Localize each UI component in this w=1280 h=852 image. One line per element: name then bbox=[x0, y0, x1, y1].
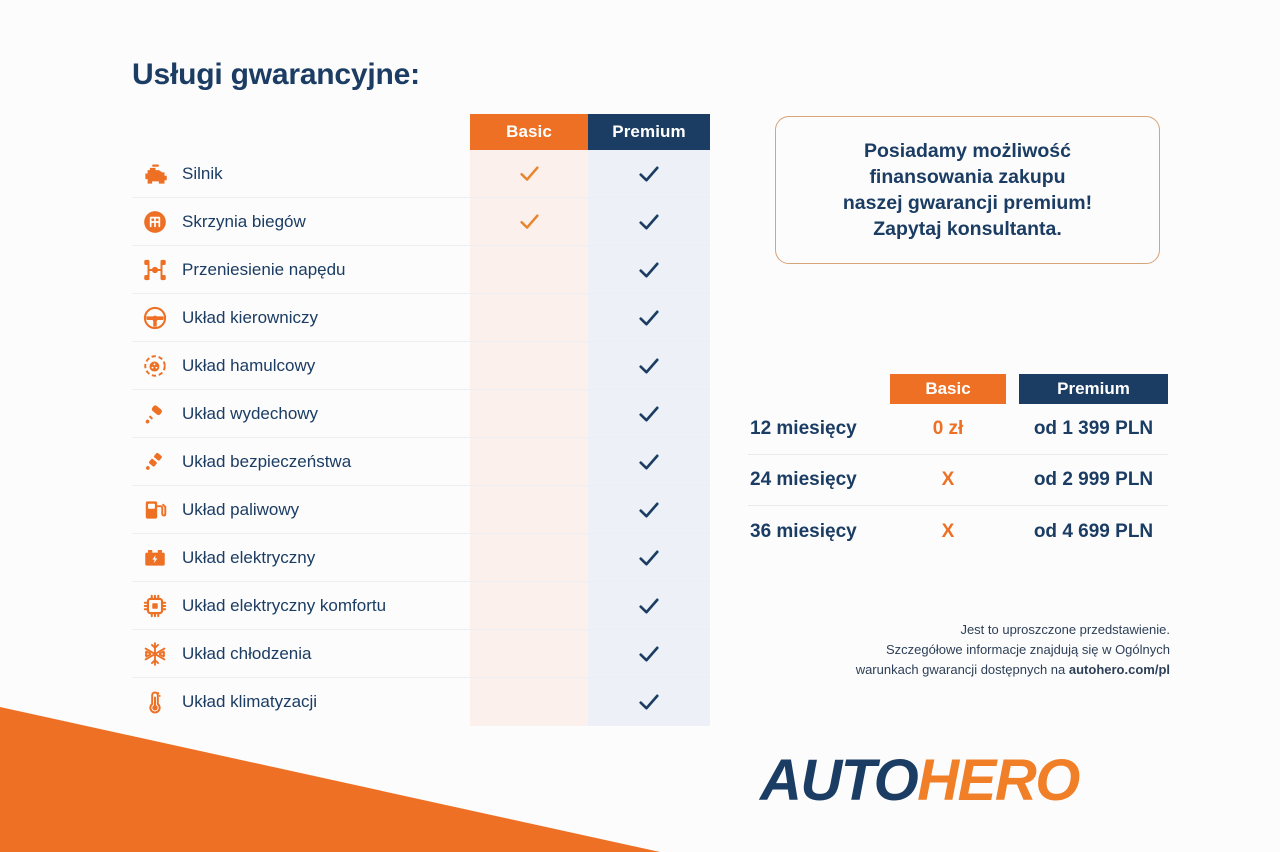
check-icon bbox=[638, 693, 660, 711]
check-icon bbox=[519, 213, 540, 230]
drivetrain-icon bbox=[132, 257, 178, 283]
check-icon bbox=[519, 165, 540, 182]
pricing-header-spacer bbox=[748, 374, 890, 404]
feature-label: Układ chłodzenia bbox=[178, 644, 470, 664]
feature-row: Układ elektryczny bbox=[132, 534, 710, 582]
feature-label: Układ bezpieczeństwa bbox=[178, 452, 470, 472]
feature-label: Układ elektryczny bbox=[178, 548, 470, 568]
financing-promo-box: Posiadamy możliwość finansowania zakupu … bbox=[775, 116, 1160, 264]
check-icon bbox=[638, 597, 660, 615]
check-icon bbox=[638, 213, 660, 231]
feature-row: Układ hamulcowy bbox=[132, 342, 710, 390]
promo-line-3: naszej gwarancji premium! bbox=[794, 191, 1141, 217]
pricing-term: 12 miesięcy bbox=[748, 418, 890, 440]
feature-cell-premium bbox=[588, 198, 710, 245]
snowflake-icon bbox=[132, 641, 178, 667]
feature-cell-premium bbox=[588, 246, 710, 293]
pricing-header-basic: Basic bbox=[890, 374, 1006, 404]
page-title: Usługi gwarancyjne: bbox=[132, 58, 712, 92]
battery-icon bbox=[132, 545, 178, 571]
pricing-value-premium: od 2 999 PLN bbox=[1019, 469, 1168, 491]
feature-cell-basic bbox=[470, 534, 588, 581]
feature-row: Układ chłodzenia bbox=[132, 630, 710, 678]
feature-row: Układ wydechowy bbox=[132, 390, 710, 438]
pricing-value-basic: 0 zł bbox=[890, 418, 1006, 440]
chip-icon bbox=[132, 593, 178, 619]
feature-cell-premium bbox=[588, 582, 710, 629]
pricing-value-premium: od 1 399 PLN bbox=[1019, 418, 1168, 440]
pricing-row: 12 miesięcy0 złod 1 399 PLN bbox=[748, 404, 1168, 455]
feature-cell-premium bbox=[588, 630, 710, 677]
check-icon bbox=[638, 357, 660, 375]
seatbelt-icon bbox=[132, 449, 178, 475]
feature-row: Skrzynia biegów bbox=[132, 198, 710, 246]
thermometer-icon bbox=[132, 689, 178, 715]
check-icon bbox=[638, 405, 660, 423]
feature-label: Układ klimatyzacji bbox=[178, 692, 470, 712]
pricing-table-body: 12 miesięcy0 złod 1 399 PLN24 miesięcyXo… bbox=[748, 404, 1168, 557]
pricing-term: 24 miesięcy bbox=[748, 469, 890, 491]
pricing-row: 36 miesięcyXod 4 699 PLN bbox=[748, 506, 1168, 557]
feature-cell-basic bbox=[470, 246, 588, 293]
disclaimer-line-3: warunkach gwarancji dostępnych na autohe… bbox=[700, 660, 1170, 680]
financing-promo-box-wrapper: Posiadamy możliwość finansowania zakupu … bbox=[775, 116, 1160, 264]
feature-label: Układ hamulcowy bbox=[178, 356, 470, 376]
pricing-value-basic: X bbox=[890, 521, 1006, 543]
feature-label: Przeniesienie napędu bbox=[178, 260, 470, 280]
feature-cell-basic bbox=[470, 198, 588, 245]
disclaimer-line-3-prefix: warunkach gwarancji dostępnych na bbox=[856, 662, 1069, 677]
check-icon bbox=[638, 165, 660, 183]
logo-text-hero: HERO bbox=[917, 748, 1079, 813]
pricing-table: Basic Premium 12 miesięcy0 złod 1 399 PL… bbox=[748, 374, 1168, 557]
header-spacer bbox=[132, 114, 470, 150]
autohero-website-link[interactable]: autohero.com/pl bbox=[1069, 662, 1170, 677]
check-icon bbox=[638, 549, 660, 567]
feature-row: Układ kierowniczy bbox=[132, 294, 710, 342]
feature-cell-premium bbox=[588, 486, 710, 533]
pricing-header-gap bbox=[1006, 374, 1019, 404]
feature-table-body: SilnikSkrzynia biegówPrzeniesienie napęd… bbox=[132, 150, 710, 726]
feature-cell-premium bbox=[588, 390, 710, 437]
feature-cell-basic bbox=[470, 486, 588, 533]
feature-cell-premium bbox=[588, 342, 710, 389]
feature-row: Układ elektryczny komfortu bbox=[132, 582, 710, 630]
column-header-premium: Premium bbox=[588, 114, 710, 150]
feature-cell-premium bbox=[588, 294, 710, 341]
feature-row: Układ paliwowy bbox=[132, 486, 710, 534]
fuel-pump-icon bbox=[132, 497, 178, 523]
feature-cell-basic bbox=[470, 150, 588, 197]
check-icon bbox=[638, 453, 660, 471]
feature-cell-basic bbox=[470, 294, 588, 341]
engine-icon bbox=[132, 160, 178, 187]
feature-row: Silnik bbox=[132, 150, 710, 198]
pricing-value-basic: X bbox=[890, 469, 1006, 491]
pricing-header-premium: Premium bbox=[1019, 374, 1168, 404]
feature-label: Silnik bbox=[178, 164, 470, 184]
warranty-services-section: Usługi gwarancyjne: Basic Premium Silnik… bbox=[132, 58, 712, 726]
promo-line-1: Posiadamy możliwość bbox=[794, 139, 1141, 165]
pricing-value-premium: od 4 699 PLN bbox=[1019, 521, 1168, 543]
feature-cell-basic bbox=[470, 630, 588, 677]
feature-cell-basic bbox=[470, 390, 588, 437]
pricing-table-header: Basic Premium bbox=[748, 374, 1168, 404]
pricing-term: 36 miesięcy bbox=[748, 521, 890, 543]
disclaimer: Jest to uproszczone przedstawienie. Szcz… bbox=[700, 620, 1170, 680]
column-header-basic: Basic bbox=[470, 114, 588, 150]
promo-line-2: finansowania zakupu bbox=[794, 165, 1141, 191]
disclaimer-line-2: Szczegółowe informacje znajdują się w Og… bbox=[700, 640, 1170, 660]
feature-comparison-table: Basic Premium SilnikSkrzynia biegówPrzen… bbox=[132, 114, 710, 726]
feature-label: Układ paliwowy bbox=[178, 500, 470, 520]
feature-label: Układ wydechowy bbox=[178, 404, 470, 424]
feature-label: Układ elektryczny komfortu bbox=[178, 596, 470, 616]
feature-cell-basic bbox=[470, 342, 588, 389]
feature-row: Układ bezpieczeństwa bbox=[132, 438, 710, 486]
feature-cell-basic bbox=[470, 678, 588, 726]
pricing-row: 24 miesięcyXod 2 999 PLN bbox=[748, 455, 1168, 506]
feature-cell-basic bbox=[470, 582, 588, 629]
poster-canvas: Usługi gwarancyjne: Basic Premium Silnik… bbox=[0, 0, 1280, 852]
exhaust-icon bbox=[132, 401, 178, 427]
feature-cell-premium bbox=[588, 150, 710, 197]
check-icon bbox=[638, 309, 660, 327]
feature-cell-premium bbox=[588, 678, 710, 726]
feature-row: Układ klimatyzacji bbox=[132, 678, 710, 726]
feature-cell-premium bbox=[588, 534, 710, 581]
feature-table-header: Basic Premium bbox=[132, 114, 710, 150]
brake-disc-icon bbox=[132, 353, 178, 379]
steering-wheel-icon bbox=[132, 305, 178, 331]
gearbox-icon bbox=[132, 209, 178, 235]
check-icon bbox=[638, 501, 660, 519]
disclaimer-line-1: Jest to uproszczone przedstawienie. bbox=[700, 620, 1170, 640]
logo-text-auto: AUTO bbox=[760, 748, 917, 813]
promo-line-4: Zapytaj konsultanta. bbox=[794, 217, 1141, 243]
feature-label: Skrzynia biegów bbox=[178, 212, 470, 232]
feature-row: Przeniesienie napędu bbox=[132, 246, 710, 294]
feature-label: Układ kierowniczy bbox=[178, 308, 470, 328]
feature-cell-premium bbox=[588, 438, 710, 485]
check-icon bbox=[638, 645, 660, 663]
autohero-logo: AUTOHERO bbox=[760, 752, 1079, 810]
feature-cell-basic bbox=[470, 438, 588, 485]
check-icon bbox=[638, 261, 660, 279]
